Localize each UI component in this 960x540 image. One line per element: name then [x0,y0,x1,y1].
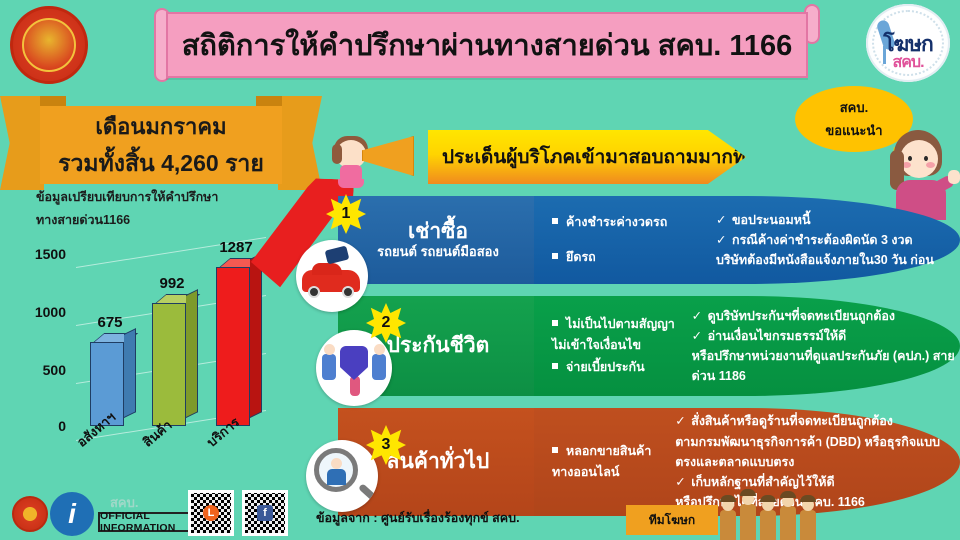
garuda-seal-inner [22,18,76,72]
check-icon: ✓ [716,210,728,230]
advice-text: ขอประนอมหนี้ [732,213,811,227]
advice-continuation: ตามกรมพัฒนาธุรกิจการค้า (DBD) หรือธุรกิจ… [675,432,960,473]
car-wheel-front [308,286,320,298]
y-tick-0: 0 [14,418,66,434]
officials-group-icon [720,492,840,540]
family-parent-left [322,354,336,380]
check-icon: ✓ [675,472,687,492]
government-seal-icon [12,496,48,532]
topic-subtitle-1: รถยนต์ รถยนต์มือสอง [377,245,499,260]
car-shape [302,270,360,292]
bar-value-2: 992 [146,275,198,292]
line-qr-code[interactable]: L [188,490,234,536]
issues-list-2: ไม่เป็นไปตามสัญญา ไม่เข้าใจเงื่อนไข จ่าย… [552,314,686,378]
chart-caption-line1: ข้อมูลเปรียบเทียบการให้คำปรึกษา [36,186,286,209]
advisor-hand-pointing [948,170,960,184]
information-icon: i [50,492,94,536]
y-tick-1000: 1000 [14,304,66,320]
ribbon-tail-left [0,96,44,190]
advice-item: ✓ขอประนอมหนี้ [716,210,934,230]
check-icon: ✓ [675,411,687,431]
issue-item: ไม่เป็นไปตามสัญญา ไม่เข้าใจเงื่อนไข [552,314,686,357]
advice-item: ✓ดูบริษัทประกันฯที่จดทะเบียนถูกต้อง [692,306,960,326]
y-tick-1500: 1500 [14,246,66,262]
advice-text: อ่านเงื่อนไขกรมธรรม์ให้ดี [708,329,847,343]
y-tick-500: 500 [14,362,66,378]
advice-item: ✓เก็บหลักฐานที่สำคัญไว้ให้ดี [675,472,960,492]
issue-item: จ่ายเบี้ยประกัน [552,357,686,378]
step-badge-2: 2 [366,303,406,343]
car-key-icon [296,240,368,312]
topic-title-2: ประกันชีวิต [387,334,490,358]
family-head-right [374,344,385,355]
advice-continuation: หรือปรึกษาหน่วยงานที่ดูแลประกันภัย (คปภ.… [692,346,960,387]
family-parent-right [372,354,386,380]
official-person [780,506,796,540]
facebook-icon: f [257,505,273,521]
megaphone-girl-skirt [338,179,364,188]
bar-front-3 [216,267,250,426]
issue-text: จ่ายเบี้ยประกัน [566,360,645,374]
issue-text: ไม่เป็นไปตามสัญญา ไม่เข้าใจเงื่อนไข [552,317,675,352]
chart-caption-line2: ทางสายด่วน1166 [36,209,286,232]
bar-services: 1287 [216,267,250,426]
advisor-cheek-right [926,162,935,168]
garuda-seal-icon [10,6,88,84]
ribbon-tail-right [278,96,322,190]
advisor-eye-right [924,156,928,161]
facebook-qr-code[interactable]: f [242,490,288,536]
megaphone-girl-icon [326,132,418,198]
official-person [740,504,756,540]
bar-side-3 [250,253,262,418]
topic-panel-2: ไม่เป็นไปตามสัญญา ไม่เข้าใจเงื่อนไข จ่าย… [534,296,960,396]
issue-text: ค้างชำระค่างวดรถ [566,215,667,229]
line-icon: L [203,505,219,521]
bar-value-3: 1287 [210,239,262,256]
step-badge-1: 1 [326,194,366,234]
official-person [760,510,776,540]
topic-row-hire-purchase[interactable]: เช่าซื้อ รถยนต์ รถยนต์มือสอง ค้างชำระค่า… [338,196,960,284]
car-window [312,263,342,275]
top-issues-banner-text: ประเด็นผู้บริโภคเข้ามาสอบถามมากที่สุด [428,142,769,172]
advice-text: กรณีค้างค่าชำระต้องผิดนัด 3 งวด [732,233,913,247]
advisor-eye-left [908,156,912,161]
bullet-square-icon [552,320,558,326]
bullet-square-icon [552,447,558,453]
bar-value-1: 675 [84,314,136,331]
bubble-line1: สคบ. [840,97,869,118]
shield-shape [340,346,368,380]
infographic-canvas: สถิติการให้คำปรึกษาผ่านทางสายด่วน สคบ. 1… [0,0,960,540]
bar-side-2 [186,289,198,418]
ribbon-body: เดือนมกราคม รวมทั้งสิ้น 4,260 ราย [40,106,282,184]
car-wheel-rear [342,286,354,298]
advice-continuation: บริษัทต้องมีหนังสือแจ้งภายใน30 วัน ก่อน [716,250,934,270]
page-title: สถิติการให้คำปรึกษาผ่านทางสายด่วน สคบ. 1… [152,8,822,82]
advice-item: ✓กรณีค้างค่าชำระต้องผิดนัด 3 งวด [716,230,934,250]
top-issues-banner: ประเด็นผู้บริโภคเข้ามาสอบถามมากที่สุด [428,130,746,184]
chart-caption: ข้อมูลเปรียบเทียบการให้คำปรึกษา ทางสายด่… [36,186,286,232]
bar-side-1 [124,328,136,418]
advice-list-1: ✓ขอประนอมหนี้ ✓กรณีค้างค่าชำระต้องผิดนัด… [716,210,934,271]
family-head-left [324,344,335,355]
topic-row-life-insurance[interactable]: ประกันชีวิต ไม่เป็นไปตามสัญญา ไม่เข้าใจเ… [338,296,960,396]
logo-label-bottom: สคบ. [866,50,950,75]
title-banner: สถิติการให้คำปรึกษาผ่านทางสายด่วน สคบ. 1… [166,12,808,78]
official-person [800,510,816,540]
spokesperson-logo: โฆษก สคบ. [866,4,950,82]
bullet-square-icon [552,363,558,369]
advice-text: ดูบริษัทประกันฯที่จดทะเบียนถูกต้อง [708,309,895,323]
megaphone-cone-icon [362,136,414,176]
advice-text: เก็บหลักฐานที่สำคัญไว้ให้ดี [691,475,834,489]
advisor-face [900,140,938,178]
official-person [720,510,736,540]
bar-front-2 [152,303,186,426]
topic-title-3: สินค้าทั่วไป [387,450,490,474]
family-shield-icon [316,330,392,406]
spokesperson-team-badge: ทีมโฆษก [626,505,718,535]
check-icon: ✓ [716,230,728,250]
bar-goods: 992 [152,303,186,426]
title-text: สถิติการให้คำปรึกษาผ่านทางสายด่วน สคบ. 1… [182,22,793,68]
topic-row-general-goods[interactable]: สินค้าทั่วไป หลอกขายสินค้า ทางออนไลน์ ✓ส… [338,408,960,516]
month-ribbon: เดือนมกราคม รวมทั้งสิ้น 4,260 ราย [0,96,322,190]
bullet-square-icon [552,218,558,224]
ribbon-month: เดือนมกราคม [95,109,226,144]
issue-text: ยึดรถ [566,250,596,264]
bubble-line2: ขอแนะนำ [825,120,882,141]
topic-label-1: เช่าซื้อ รถยนต์ รถยนต์มือสอง [338,196,538,284]
advice-item: ✓สั่งสินค้าหรือดูร้านที่จดทะเบียนถูกต้อง [675,411,960,431]
advice-list-2: ✓ดูบริษัทประกันฯที่จดทะเบียนถูกต้อง ✓อ่า… [692,306,960,387]
check-icon: ✓ [692,306,704,326]
issue-item: ยึดรถ [552,247,710,268]
check-icon: ✓ [692,326,704,346]
issues-list-3: หลอกขายสินค้า ทางออนไลน์ [552,441,669,484]
issues-list-1: ค้างชำระค่างวดรถ ยึดรถ [552,212,710,269]
ribbon-total: รวมทั้งสิ้น 4,260 ราย [58,146,264,182]
step-badge-3: 3 [366,425,406,465]
bullet-square-icon [552,253,558,259]
issue-text: หลอกขายสินค้า ทางออนไลน์ [552,444,651,479]
topic-panel-1: ค้างชำระค่างวดรถ ยึดรถ ✓ขอประนอมหนี้ ✓กร… [534,196,960,284]
topic-title-1: เช่าซื้อ [408,220,468,244]
key-fob-shape [325,246,350,265]
advice-item: ✓อ่านเงื่อนไขกรมธรรม์ให้ดี [692,326,960,346]
issue-item: ค้างชำระค่างวดรถ [552,212,710,233]
megaphone-girl-hair-side [332,144,342,164]
advice-text: สั่งสินค้าหรือดูร้านที่จดทะเบียนถูกต้อง [691,414,893,428]
issue-item: หลอกขายสินค้า ทางออนไลน์ [552,441,669,484]
